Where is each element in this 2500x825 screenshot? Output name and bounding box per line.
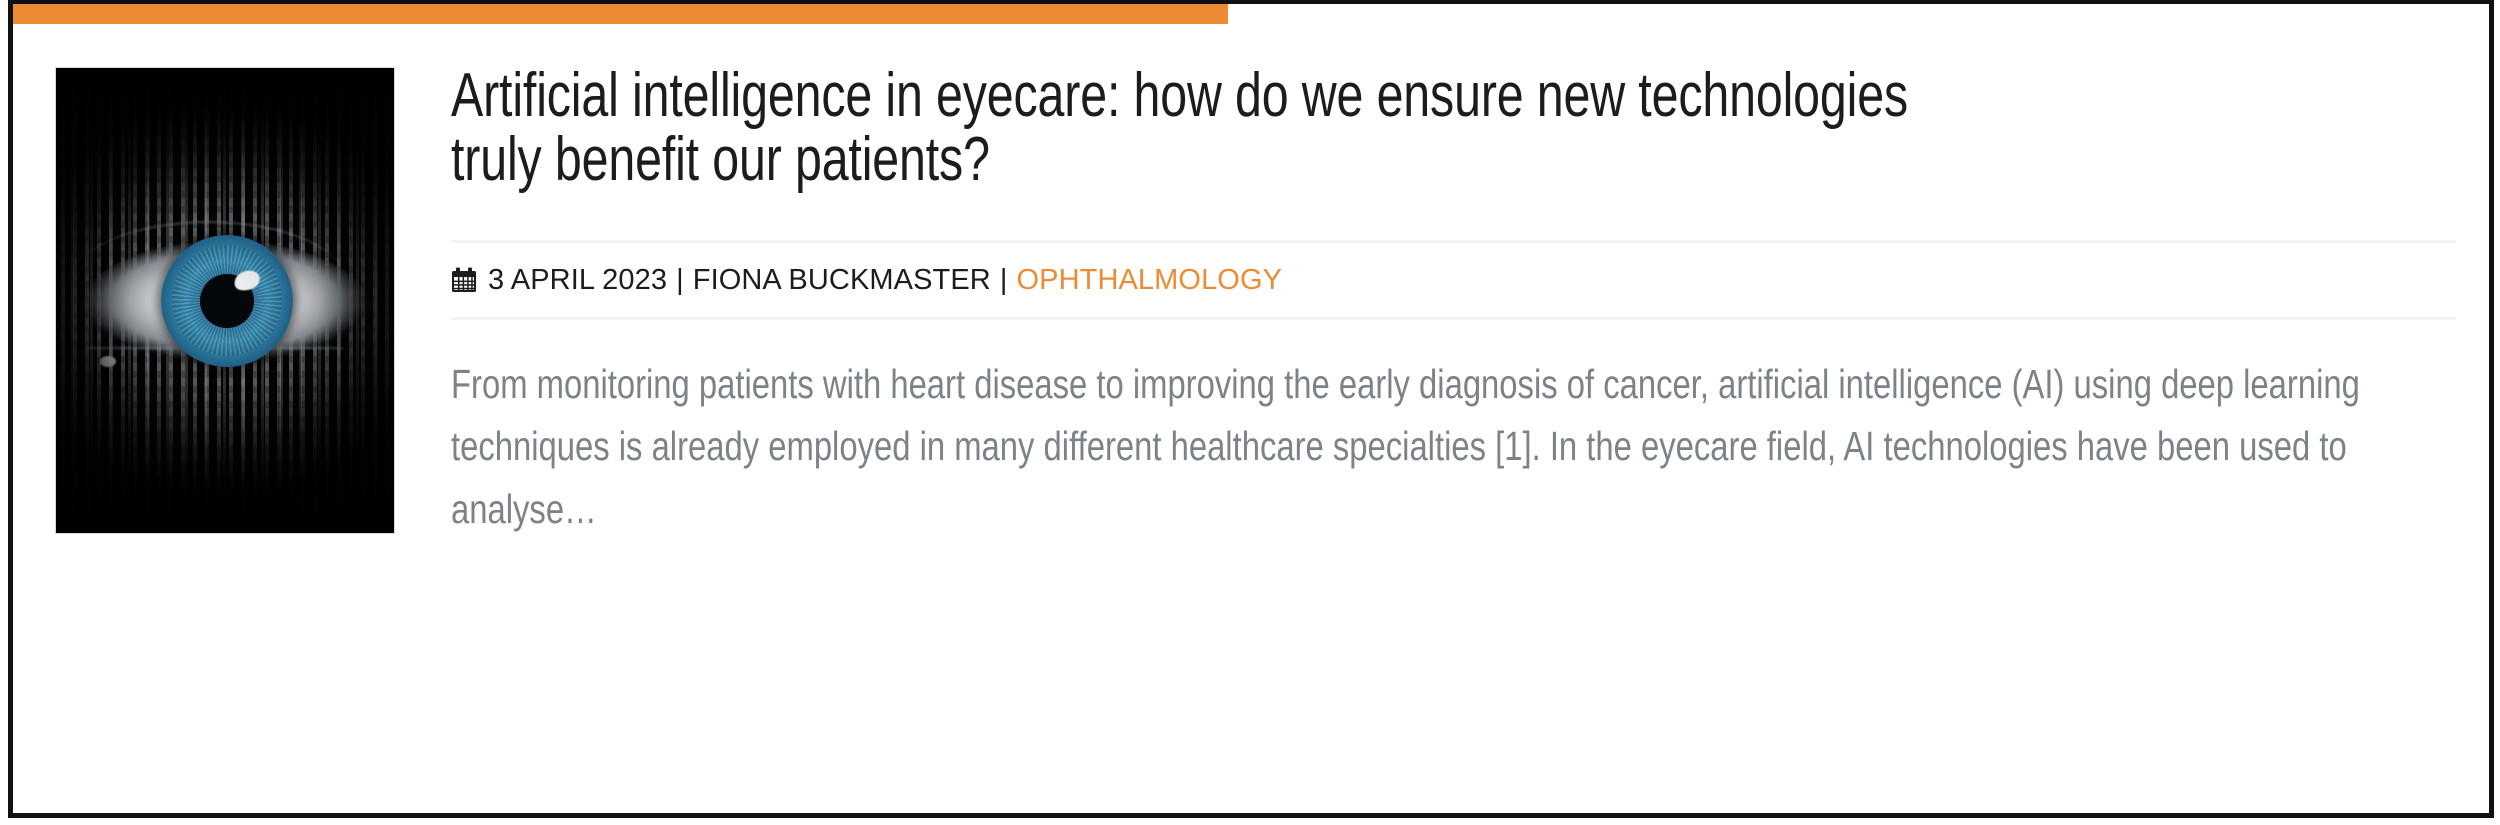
article-thumbnail[interactable] bbox=[55, 67, 395, 534]
calendar-icon bbox=[451, 267, 477, 293]
article-category-link[interactable]: OPHTHALMOLOGY bbox=[1016, 264, 1282, 297]
orange-accent-bar bbox=[13, 4, 1228, 24]
digital-eye-image bbox=[56, 68, 394, 533]
meta-line: 3 APRIL 2023 | FIONA BUCKMASTER | OPHTHA… bbox=[451, 264, 2456, 297]
article-content: Artificial intelligence in eyecare: how … bbox=[451, 64, 2449, 541]
image-vignette bbox=[56, 68, 394, 533]
card-body: Artificial intelligence in eyecare: how … bbox=[13, 24, 2489, 813]
article-title[interactable]: Artificial intelligence in eyecare: how … bbox=[451, 64, 1910, 192]
meta-separator-1: | bbox=[667, 264, 693, 297]
article-date: 3 APRIL 2023 bbox=[488, 264, 667, 297]
article-card[interactable]: Artificial intelligence in eyecare: how … bbox=[8, 0, 2494, 818]
article-excerpt: From monitoring patients with heart dise… bbox=[451, 320, 2419, 541]
meta-separator-2: | bbox=[991, 264, 1017, 297]
article-meta: 3 APRIL 2023 | FIONA BUCKMASTER | OPHTHA… bbox=[451, 240, 2456, 320]
page-root: Artificial intelligence in eyecare: how … bbox=[0, 0, 2500, 825]
article-author[interactable]: FIONA BUCKMASTER bbox=[693, 264, 991, 297]
